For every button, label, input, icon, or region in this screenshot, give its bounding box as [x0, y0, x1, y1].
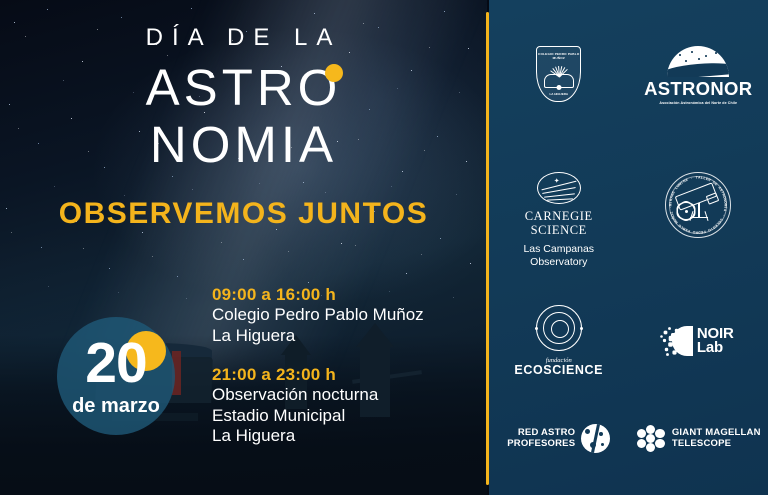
astronor-name: ASTRONOR: [644, 78, 752, 100]
concentric-rings-icon: [536, 305, 582, 351]
eco-core-icon: [551, 320, 569, 338]
schedule-venue: Colegio Pedro Pablo Muñoz: [212, 305, 480, 326]
schedule-list: 09:00 a 16:00 h Colegio Pedro Pablo Muño…: [212, 284, 480, 447]
gmt-line-2: TELESCOPE: [672, 439, 761, 450]
schedule-venue: Estadio Municipal: [212, 406, 480, 427]
sponsor-row-1: COLEGIO PEDRO PABLO MUÑOZ LA HIGUERA: [489, 46, 768, 105]
telescope-badge-icon: MIRARE LUMINA · TALLER DE ASTRONOMÍA · C…: [665, 172, 731, 238]
noirlab-line-2: Lab: [697, 341, 734, 355]
crest-top-text: COLEGIO PEDRO PABLO MUÑOZ: [537, 52, 580, 60]
sponsor-logo-fundacion-ecoscience: fundación ECOSCIENCE: [489, 305, 629, 378]
red-astro-line-1: RED ASTRO: [507, 428, 575, 439]
moon-icon: [581, 424, 610, 453]
sponsor-row-4: RED ASTRO PROFESORES: [489, 424, 768, 453]
mountain-silhouette-icon: [667, 61, 729, 77]
school-crest-icon: COLEGIO PEDRO PABLO MUÑOZ LA HIGUERA: [536, 46, 581, 102]
schedule-item: 21:00 a 23:00 h Observación nocturna Est…: [212, 364, 480, 447]
sponsor-logo-astronor: ASTRONOR Asociación Astronómica del Nort…: [629, 46, 768, 105]
sponsor-logo-carnegie-science: ✦ CARNEGIE SCIENCE Las Campanas Observat…: [489, 172, 629, 268]
carnegie-line-2: SCIENCE: [531, 224, 587, 237]
red-astro-lockup: RED ASTRO PROFESORES: [507, 424, 610, 453]
sponsor-logo-red-astro-profesores: RED ASTRO PROFESORES: [489, 424, 629, 453]
ecoscience-line-2: ECOSCIENCE: [514, 364, 603, 378]
schedule-locality: La Higuera: [212, 326, 480, 347]
noirlab-wordmark: NOIR Lab: [697, 327, 734, 356]
sponsor-logo-giant-magellan-telescope: GIANT MAGELLAN TELESCOPE: [629, 425, 768, 453]
carnegie-line-1: CARNEGIE: [525, 209, 593, 224]
sponsor-row-2: ✦ CARNEGIE SCIENCE Las Campanas Observat…: [489, 172, 768, 268]
observatory-dome-icon: [667, 46, 729, 77]
gmt-line-1: GIANT MAGELLAN: [672, 428, 761, 439]
noirlab-moon-icon: [663, 326, 693, 356]
noirlab-dot-scatter-icon: [663, 326, 664, 327]
headline-block: DÍA DE LA ASTRO NOMIA: [0, 26, 487, 170]
sponsor-logo-colegio-pedro-pablo-munoz: COLEGIO PEDRO PABLO MUÑOZ LA HIGUERA: [489, 46, 629, 105]
date-day: 20: [57, 335, 175, 392]
schedule-time: 09:00 a 16:00 h: [212, 284, 480, 305]
carnegie-sub-2: Observatory: [530, 256, 587, 269]
schedule-time: 21:00 a 23:00 h: [212, 364, 480, 385]
schedule-activity: Observación nocturna: [212, 385, 480, 406]
astronomy-day-poster: DÍA DE LA ASTRO NOMIA OBSERVEMOS JUNTOS …: [0, 0, 768, 495]
atom-icon: [677, 202, 695, 220]
schedule-item: 09:00 a 16:00 h Colegio Pedro Pablo Muño…: [212, 284, 480, 347]
sponsor-logo-mirare-lumina: MIRARE LUMINA · TALLER DE ASTRONOMÍA · C…: [629, 172, 768, 268]
red-astro-wordmark: RED ASTRO PROFESORES: [507, 428, 575, 449]
schedule-locality: La Higuera: [212, 426, 480, 447]
telescope-mount-icon: [698, 203, 700, 218]
gmt-wordmark: GIANT MAGELLAN TELESCOPE: [672, 428, 761, 450]
headline-kicker: DÍA DE LA: [0, 26, 487, 50]
noirlab-disc-icon: [672, 326, 693, 356]
date-month: de marzo: [57, 396, 175, 416]
astronor-subtitle: Asociación Astronómica del Norte de Chil…: [659, 101, 737, 105]
headline-line-1: ASTRO: [146, 62, 342, 113]
headline-line-1-text: ASTRO: [146, 59, 342, 116]
sponsor-row-3: fundación ECOSCIENCE NOIR Lab: [489, 305, 768, 378]
headline-line-2: NOMIA: [0, 119, 487, 170]
noirlab-lockup: NOIR Lab: [663, 326, 734, 356]
moon-terminator-icon: [591, 424, 600, 453]
red-astro-line-2: PROFESORES: [507, 439, 575, 450]
tagline: OBSERVEMOS JUNTOS: [0, 197, 487, 231]
carnegie-swirl-icon: ✦: [537, 172, 581, 204]
segmented-mirror-icon: [636, 425, 666, 453]
crest-emblem-icon: [556, 85, 561, 90]
gmt-lockup: GIANT MAGELLAN TELESCOPE: [636, 425, 761, 453]
crest-bottom-text: LA HIGUERA: [537, 92, 580, 96]
sponsor-logo-noirlab: NOIR Lab: [629, 326, 768, 356]
sponsor-panel: COLEGIO PEDRO PABLO MUÑOZ LA HIGUERA: [489, 0, 768, 495]
star-field-dim: [0, 0, 1, 1]
carnegie-sub-1: Las Campanas: [523, 243, 594, 256]
